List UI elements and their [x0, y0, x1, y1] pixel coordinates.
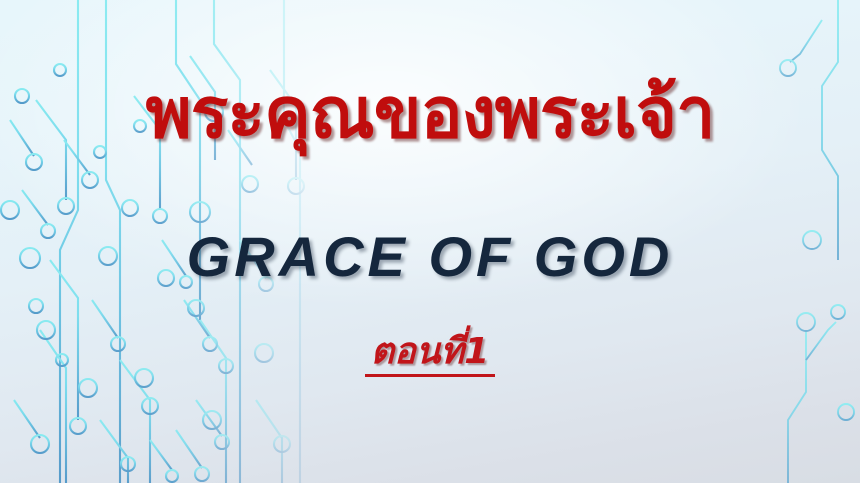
- page-title-thai: พระคุณของพระเจ้า: [0, 78, 860, 148]
- episode-label: ตอนที่1: [0, 332, 860, 377]
- slide-content: พระคุณของพระเจ้า GRACE OF GOD ตอนที่1: [0, 0, 860, 483]
- page-title-english: GRACE OF GOD: [0, 229, 860, 285]
- title-slide: พระคุณของพระเจ้า GRACE OF GOD ตอนที่1: [0, 0, 860, 483]
- episode-label-text: ตอนที่1: [365, 332, 495, 377]
